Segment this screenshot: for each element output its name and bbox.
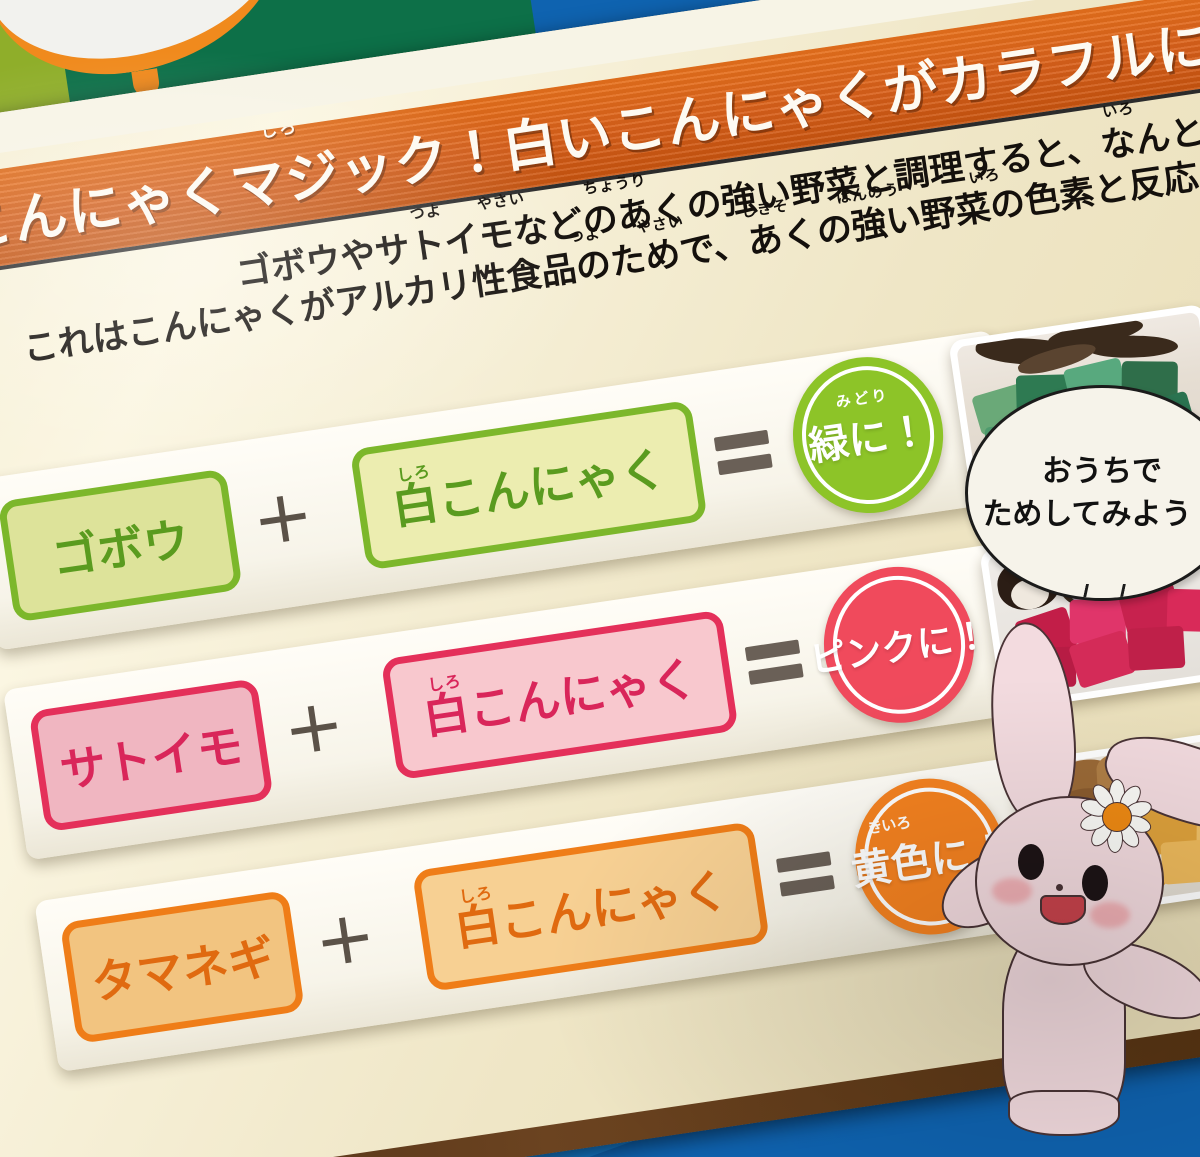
exhibit-photo: しろ こんにゃくマジック！白いこんにゃくがカラフルに！ つよ やさい ちょうり … — [0, 0, 1200, 1157]
rabbit-eye-right — [1082, 865, 1108, 901]
rabbit-feet — [1008, 1090, 1120, 1136]
rabbit-nose — [1056, 884, 1063, 891]
bubble-line-1: おうちで — [1042, 450, 1162, 494]
konjac-chip-2: しろ 白こんにゃく — [381, 609, 739, 780]
ruby-iro-1: いろ — [1101, 99, 1136, 123]
rabbit-mascot — [930, 620, 1200, 1140]
vegetable-label-3: タマネギ — [87, 921, 279, 1013]
ruby-tsuyo-2: つよ — [568, 224, 603, 248]
plus-operator-2: ＋ — [281, 703, 347, 759]
konjac-ruby-2: しろ — [426, 667, 463, 696]
konjac-label-3: 白こんにゃく — [450, 854, 733, 960]
ruby-tsuyo-1: つよ — [409, 201, 444, 225]
daisy-flower-icon — [1078, 778, 1154, 854]
konjac-chip-3: しろ 白こんにゃく — [412, 821, 770, 992]
ruby-iro-2: いろ — [967, 165, 1002, 189]
konjac-ruby-3: しろ — [457, 879, 494, 908]
rabbit-cheek-left — [992, 878, 1032, 904]
plus-operator-1: ＋ — [250, 493, 316, 549]
vegetable-chip-gobou: ゴボウ — [0, 468, 243, 622]
rabbit-ear-left — [983, 619, 1082, 825]
rabbit-eye-left — [1018, 844, 1044, 880]
rabbit-mouth — [1040, 895, 1086, 925]
equals-operator-1 — [713, 428, 773, 479]
vegetable-label-2: サトイモ — [55, 709, 247, 801]
konjac-ruby-1: しろ — [395, 458, 432, 487]
konjac-label-1: 白こんにゃく — [387, 432, 670, 538]
bubble-line-2: ためしてみよう！ — [982, 493, 1200, 537]
result-badge-green: みどり 緑に！ — [782, 347, 953, 523]
vegetable-chip-tamanegi: タマネギ — [60, 890, 305, 1044]
konjac-chip-1: しろ 白こんにゃく — [350, 400, 708, 571]
vegetable-label-1: ゴボウ — [47, 503, 193, 588]
equals-operator-2 — [744, 638, 804, 689]
bubble-tail — [1074, 584, 1126, 601]
konjac-label-2: 白こんにゃく — [418, 642, 701, 748]
rabbit-cheek-right — [1090, 902, 1130, 928]
plus-operator-3: ＋ — [312, 915, 378, 971]
equals-operator-3 — [776, 849, 836, 900]
vegetable-chip-satoimo: サトイモ — [28, 678, 273, 832]
